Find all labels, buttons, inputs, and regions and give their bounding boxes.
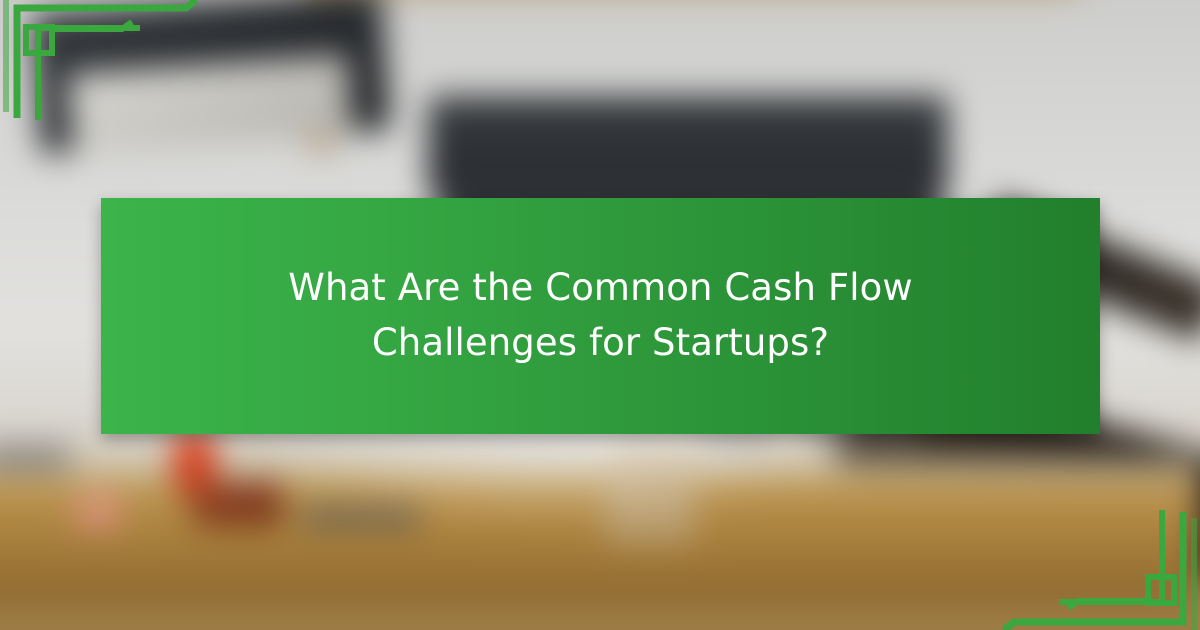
corner-ornament-top-left: [0, 0, 200, 160]
title-banner: What Are the Common Cash Flow Challenges…: [101, 198, 1100, 434]
background-round-object: [72, 492, 124, 532]
featured-image-canvas: What Are the Common Cash Flow Challenges…: [0, 0, 1200, 630]
page-title: What Are the Common Cash Flow Challenges…: [191, 261, 1011, 371]
corner-ornament-bottom-right: [1000, 470, 1200, 630]
background-flower: [172, 425, 216, 495]
background-desk-item-1: [0, 445, 70, 471]
